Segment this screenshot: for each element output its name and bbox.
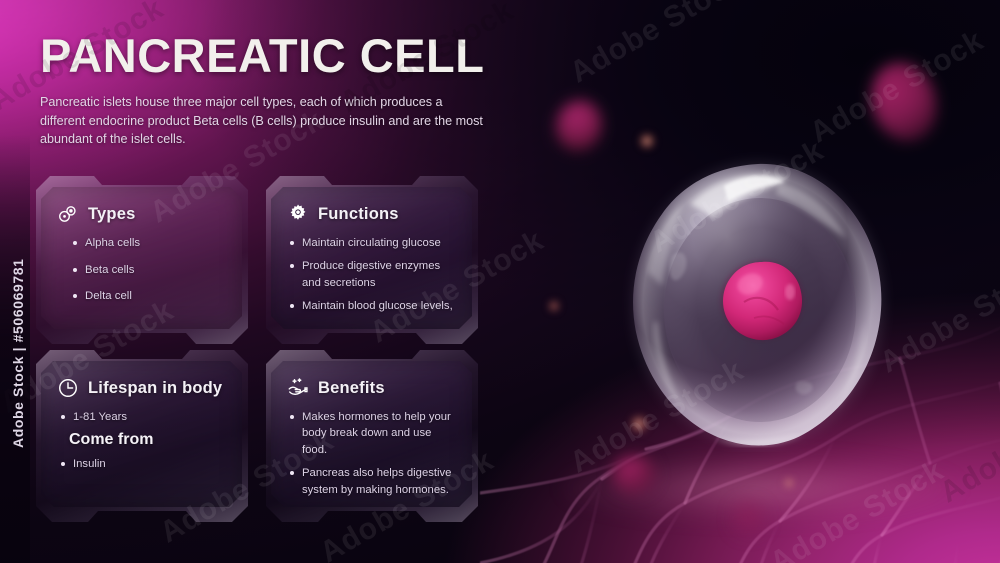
card-header: Types — [57, 203, 228, 225]
page-subtitle: Pancreatic islets house three major cell… — [40, 93, 488, 149]
card-bullet-list: Maintain circulating glucose Produce dig… — [287, 235, 458, 315]
card-title: Benefits — [318, 379, 385, 398]
card-header: Benefits — [287, 377, 458, 399]
card-header: Lifespan in body — [57, 377, 228, 399]
background-spark — [639, 133, 655, 149]
card-bullet-list: 1-81 Years — [57, 409, 228, 425]
card-benefits[interactable]: Benefits Makes hormones to help your bod… — [266, 350, 478, 522]
card-types[interactable]: Types Alpha cells Beta cells Delta cell — [36, 176, 248, 344]
cells-icon — [57, 203, 79, 225]
list-item: Insulin — [57, 456, 228, 472]
gear-icon — [287, 203, 309, 225]
card-subheading: Come from — [69, 431, 228, 449]
stock-credit-label: Adobe Stock | #506069781 — [10, 228, 26, 448]
background-spark — [784, 478, 794, 488]
background-spark — [548, 300, 560, 312]
poster-canvas: PANCREATIC CELL Pancreatic islets house … — [0, 0, 1000, 563]
page-title: PANCREATIC CELL — [40, 32, 500, 80]
list-item: Alpha cells — [57, 235, 228, 252]
list-item: Maintain circulating glucose — [287, 235, 458, 251]
info-card-grid: Types Alpha cells Beta cells Delta cell — [36, 176, 492, 522]
list-item: Delta cell — [57, 288, 228, 305]
list-item: 1-81 Years — [57, 409, 228, 425]
background-blob — [735, 505, 765, 535]
card-sub-bullet-list: Insulin — [57, 456, 228, 472]
clock-icon — [57, 377, 79, 399]
card-bullet-list: Alpha cells Beta cells Delta cell — [57, 235, 228, 305]
card-title: Lifespan in body — [88, 379, 222, 398]
list-item: Produce digestive enzymes and secretions — [287, 258, 458, 291]
card-functions[interactable]: Functions Maintain circulating glucose P… — [266, 176, 478, 344]
card-title: Functions — [318, 205, 399, 224]
pancreatic-cell-illustration — [618, 152, 898, 452]
card-header: Functions — [287, 203, 458, 225]
list-item: Maintain blood glucose levels, — [287, 298, 458, 314]
card-title: Types — [88, 205, 135, 224]
card-lifespan[interactable]: Lifespan in body 1-81 Years Come from In… — [36, 350, 248, 522]
card-bullet-list: Makes hormones to help your body break d… — [287, 409, 458, 498]
credit-bar: Adobe Stock | #506069781 — [0, 0, 30, 563]
list-item: Pancreas also helps digestive system by … — [287, 465, 458, 498]
hand-plus-icon — [287, 377, 309, 399]
hero-text: PANCREATIC CELL Pancreatic islets house … — [40, 32, 500, 149]
list-item: Beta cells — [57, 262, 228, 279]
list-item: Makes hormones to help your body break d… — [287, 409, 458, 458]
background-blob — [612, 455, 656, 495]
